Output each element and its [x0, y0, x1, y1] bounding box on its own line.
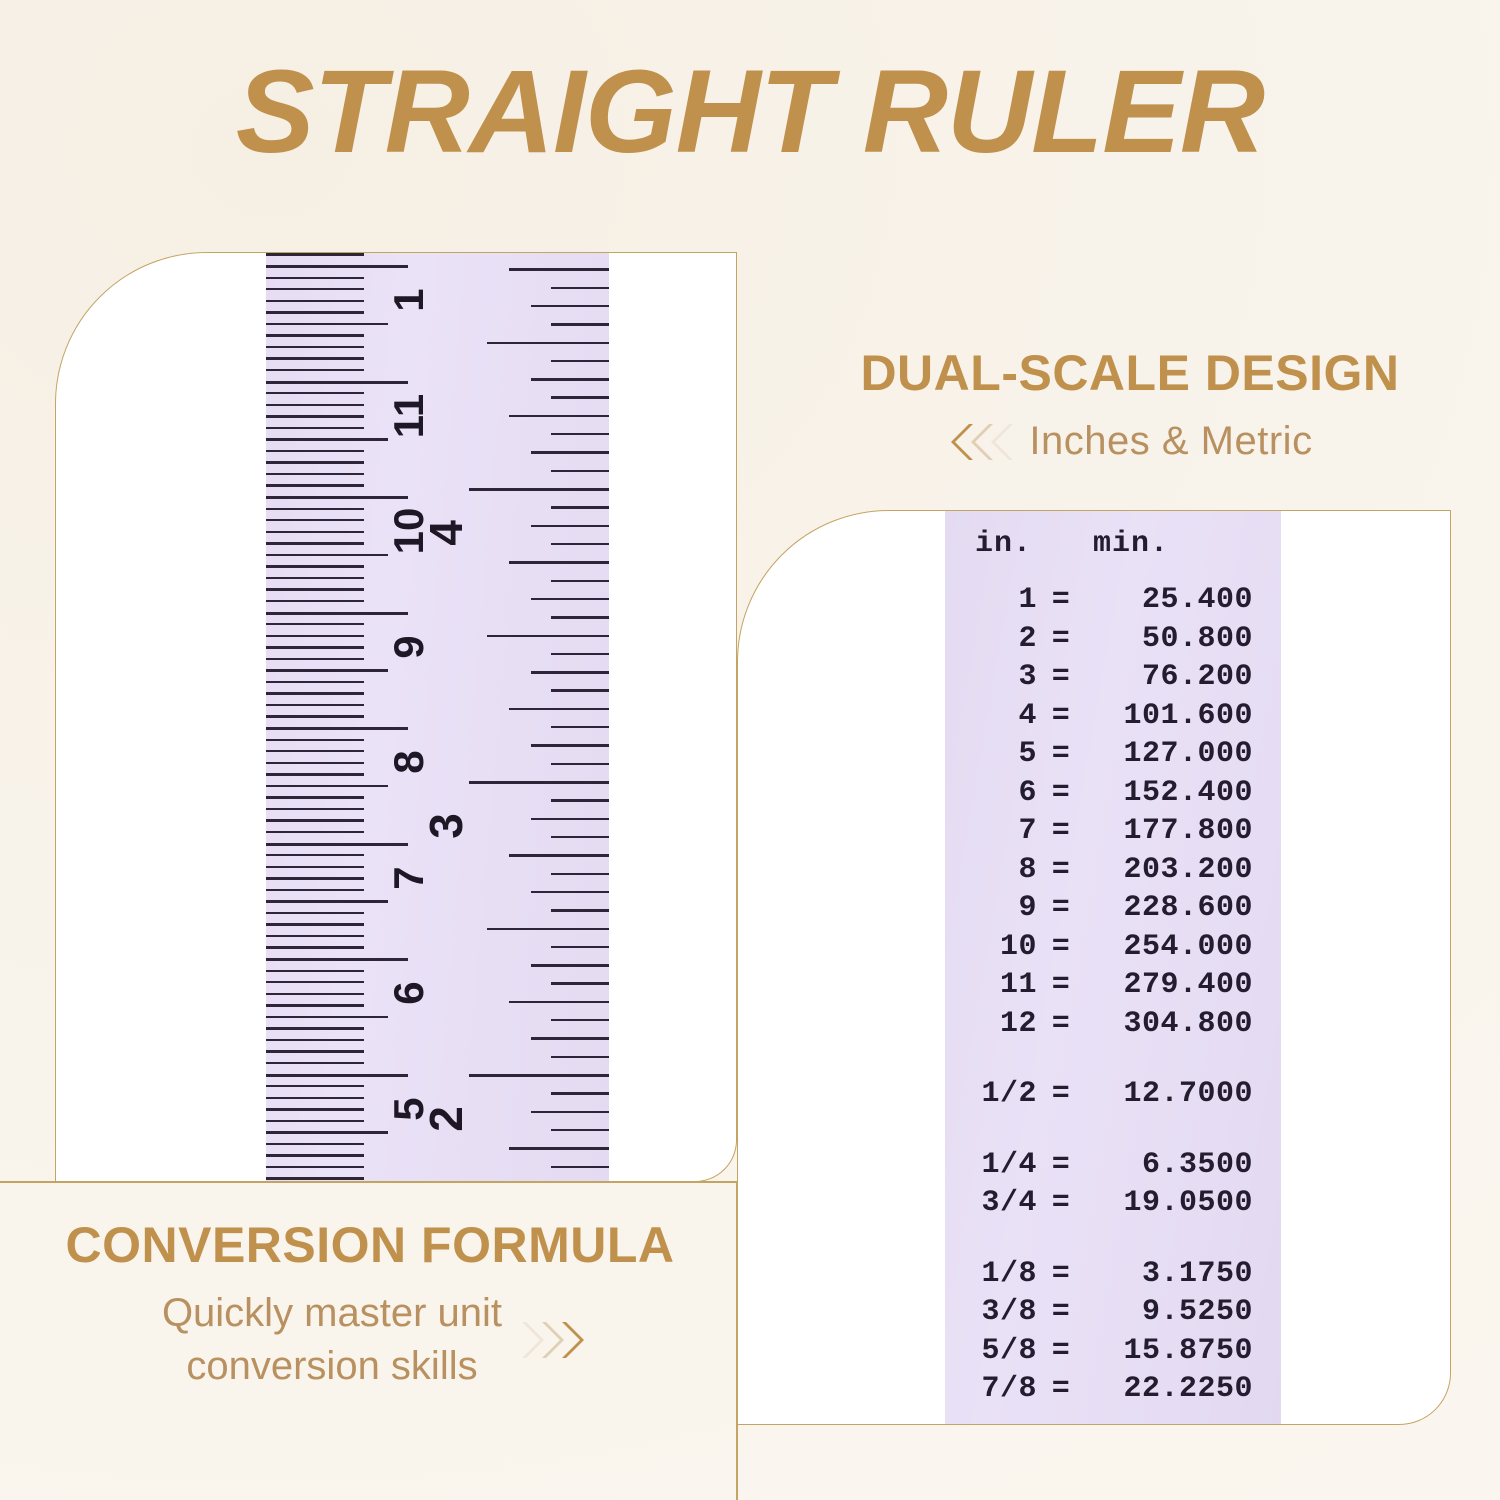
ruler-tick-mm — [266, 819, 364, 821]
ruler-tick-eighth-inch — [531, 378, 609, 380]
cell-inches: 1/4 — [967, 1150, 1037, 1180]
conversion-formula-heading: CONVERSION FORMULA — [10, 1218, 730, 1273]
ruler-tick-mm — [266, 346, 364, 348]
cell-inches: 9 — [967, 893, 1037, 923]
ruler-tick-5mm — [266, 669, 388, 671]
ruler-tick-mm — [266, 981, 364, 983]
conversion-formula-subrow: Quickly master unit conversion skills — [10, 1287, 730, 1393]
cell-equals: = — [1037, 624, 1085, 654]
cell-millimeters: 25.400 — [1085, 585, 1259, 615]
cell-inches: 3 — [967, 662, 1037, 692]
ruler-tick-cm — [266, 843, 408, 846]
cell-millimeters: 3.1750 — [1085, 1259, 1259, 1289]
cell-inches: 10 — [967, 932, 1037, 962]
ruler-tick-mm — [266, 946, 364, 948]
ruler-tick-sixteenth — [551, 543, 609, 545]
ruler-tick-mm — [266, 357, 364, 359]
ruler-tick-mm — [266, 1004, 364, 1006]
cell-millimeters: 203.200 — [1085, 855, 1259, 885]
ruler-tick-cm — [266, 496, 408, 499]
ruler-tick-half-inch — [487, 928, 609, 930]
ruler-tick-mm — [266, 715, 364, 717]
ruler-tick-cm — [266, 612, 408, 615]
ruler-tick-mm — [266, 1027, 364, 1029]
cell-equals: = — [1037, 1188, 1085, 1218]
cell-equals: = — [1037, 778, 1085, 808]
cell-inches: 8 — [967, 855, 1037, 885]
table-row: 7/8=22.2250 — [967, 1374, 1259, 1413]
ruler-tick-mm — [266, 311, 364, 313]
cell-equals: = — [1037, 739, 1085, 769]
ruler-tick-eighth-inch — [531, 671, 609, 673]
cell-equals: = — [1037, 662, 1085, 692]
ruler-tick-mm — [266, 531, 364, 533]
ruler-tick-sixteenth — [551, 1129, 609, 1131]
ruler-tick-sixteenth — [551, 470, 609, 472]
ruler-tick-mm — [266, 658, 364, 660]
ruler-tick-mm — [266, 739, 364, 741]
ruler-tick-mm — [266, 565, 364, 567]
ruler-tick-mm — [266, 1097, 364, 1099]
ruler-tick-mm — [266, 253, 364, 255]
ruler-tick-quarter-inch — [509, 561, 609, 563]
ruler-tick-sixteenth — [551, 433, 609, 435]
cell-equals: = — [1037, 1259, 1085, 1289]
cell-equals: = — [1037, 816, 1085, 846]
ruler-tick-half-inch — [487, 635, 609, 637]
ruler-tick-5mm — [266, 1016, 388, 1018]
ruler-tick-mm — [266, 369, 364, 371]
cell-equals: = — [1037, 701, 1085, 731]
page-title: STRAIGHT RULER — [0, 48, 1500, 178]
table-row: 1/2=12.7000 — [967, 1079, 1259, 1118]
cell-millimeters: 304.800 — [1085, 1009, 1259, 1039]
ruler-tick-eighth-inch — [531, 818, 609, 820]
cell-millimeters: 127.000 — [1085, 739, 1259, 769]
ruler-tick-eighth-inch — [531, 891, 609, 893]
ruler-tick-mm — [266, 877, 364, 879]
ruler-tick-mm — [266, 404, 364, 406]
table-row: 3/4=19.0500 — [967, 1188, 1259, 1227]
table-row: 1/4=6.3500 — [967, 1150, 1259, 1189]
ruler-tick-sixteenth — [551, 982, 609, 984]
ruler-tick-mm — [266, 923, 364, 925]
ruler-tick-mm — [266, 1120, 364, 1122]
ruler-tick-mm — [266, 484, 364, 486]
table-row: 12=304.800 — [967, 1009, 1259, 1048]
table-row: 2=50.800 — [967, 624, 1259, 663]
ruler-label-cm: 11 — [388, 381, 430, 451]
ruler-tick-inch — [469, 488, 609, 491]
ruler-tick-mm — [266, 519, 364, 521]
ruler-tick-mm — [266, 704, 364, 706]
ruler-tick-mm — [266, 473, 364, 475]
cell-millimeters: 228.600 — [1085, 893, 1259, 923]
cell-equals: = — [1037, 1336, 1085, 1366]
cell-millimeters: 76.200 — [1085, 662, 1259, 692]
table-row: 9=228.600 — [967, 893, 1259, 932]
ruler-tick-mm — [266, 588, 364, 590]
cell-equals: = — [1037, 893, 1085, 923]
cell-equals: = — [1037, 1009, 1085, 1039]
ruler-tick-mm — [266, 1108, 364, 1110]
table-group-gap — [967, 1118, 1259, 1150]
ruler-tick-sixteenth — [551, 323, 609, 325]
cell-millimeters: 12.7000 — [1085, 1079, 1259, 1109]
cell-millimeters: 15.8750 — [1085, 1336, 1259, 1366]
ruler-tick-mm — [266, 600, 364, 602]
cell-equals: = — [1037, 1079, 1085, 1109]
cell-inches: 4 — [967, 701, 1037, 731]
ruler-tick-sixteenth — [551, 616, 609, 618]
ruler-tick-eighth-inch — [531, 744, 609, 746]
ruler-tick-quarter-inch — [509, 1001, 609, 1003]
cell-equals: = — [1037, 970, 1085, 1000]
cell-equals: = — [1037, 1297, 1085, 1327]
ruler-tick-cm — [266, 381, 408, 384]
ruler-tick-mm — [266, 577, 364, 579]
ruler-tick-5mm — [266, 1131, 388, 1133]
ruler-tick-mm — [266, 681, 364, 683]
ruler-tick-sixteenth — [551, 726, 609, 728]
ruler-tick-mm — [266, 1143, 364, 1145]
ruler-tick-sixteenth — [551, 360, 609, 362]
cell-millimeters: 177.800 — [1085, 816, 1259, 846]
conversion-formula-subheading: Quickly master unit conversion skills — [162, 1287, 502, 1393]
ruler-tick-mm — [266, 1154, 364, 1156]
ruler-tick-mm — [266, 854, 364, 856]
ruler-tick-eighth-inch — [531, 305, 609, 307]
cell-inches: 2 — [967, 624, 1037, 654]
ruler-tick-5mm — [266, 900, 388, 902]
ruler-tick-mm — [266, 912, 364, 914]
ruler-tick-mm — [266, 461, 364, 463]
cell-inches: 1 — [967, 585, 1037, 615]
ruler-tick-sixteenth — [551, 653, 609, 655]
ruler-tick-mm — [266, 750, 364, 752]
ruler-tick-inch — [469, 1074, 609, 1077]
cell-millimeters: 22.2250 — [1085, 1374, 1259, 1404]
ruler-tick-mm — [266, 427, 364, 429]
ruler-label-cm: 9 — [388, 612, 430, 682]
cell-inches: 11 — [967, 970, 1037, 1000]
ruler-tick-sixteenth — [551, 799, 609, 801]
ruler-tick-quarter-inch — [509, 708, 609, 710]
ruler-tick-quarter-inch — [509, 268, 609, 270]
cell-millimeters: 254.000 — [1085, 932, 1259, 962]
ruler-tick-quarter-inch — [509, 1147, 609, 1149]
ruler-tick-eighth-inch — [531, 1111, 609, 1113]
ruler-tick-mm — [266, 334, 364, 336]
cell-equals: = — [1037, 855, 1085, 885]
table-row: 3=76.200 — [967, 662, 1259, 701]
ruler-tick-half-inch — [487, 342, 609, 344]
ruler-tick-mm — [266, 635, 364, 637]
ruler-label-inch: 2 — [423, 1084, 469, 1154]
cell-millimeters: 152.400 — [1085, 778, 1259, 808]
cell-millimeters: 50.800 — [1085, 624, 1259, 654]
table-row: 7=177.800 — [967, 816, 1259, 855]
table-row: 6=152.400 — [967, 778, 1259, 817]
ruler-tick-sixteenth — [551, 580, 609, 582]
ruler-tick-cm — [266, 1074, 408, 1077]
cell-millimeters: 279.400 — [1085, 970, 1259, 1000]
ruler-tick-mm — [266, 1062, 364, 1064]
conversion-subheading-line1: Quickly master unit — [162, 1291, 502, 1335]
cell-inches: 5/8 — [967, 1336, 1037, 1366]
ruler-tick-eighth-inch — [531, 964, 609, 966]
chevron-left-icon-group — [947, 422, 1007, 462]
ruler-tick-eighth-inch — [531, 1037, 609, 1039]
ruler-back-strip: in. min. 1=25.4002=50.8003=76.2004=101.6… — [945, 511, 1281, 1425]
ruler-tick-eighth-inch — [531, 451, 609, 453]
ruler-tick-5mm — [266, 323, 388, 325]
ruler-tick-sixteenth — [551, 287, 609, 289]
ruler-tick-inch — [469, 781, 609, 784]
cell-equals: = — [1037, 1150, 1085, 1180]
cell-inches: 7/8 — [967, 1374, 1037, 1404]
cell-equals: = — [1037, 1374, 1085, 1404]
cell-millimeters: 6.3500 — [1085, 1150, 1259, 1180]
ruler-tick-mm — [266, 831, 364, 833]
table-row: 3/8=9.5250 — [967, 1297, 1259, 1336]
chevron-right-icon-group — [518, 1320, 578, 1360]
ruler-tick-mm — [266, 288, 364, 290]
cell-inches: 6 — [967, 778, 1037, 808]
cell-equals: = — [1037, 932, 1085, 962]
ruler-tick-mm — [266, 796, 364, 798]
chevron-right-icon — [558, 1320, 584, 1360]
ruler-tick-mm — [266, 1177, 364, 1179]
ruler-tick-sixteenth — [551, 836, 609, 838]
cell-inches: 1/2 — [967, 1079, 1037, 1109]
cell-millimeters: 19.0500 — [1085, 1188, 1259, 1218]
cell-inches: 7 — [967, 816, 1037, 846]
dual-scale-subrow: Inches & Metric — [780, 419, 1480, 464]
ruler-tick-mm — [266, 277, 364, 279]
ruler-photo-card: 1111098765432 — [55, 252, 737, 1182]
ruler-tick-cm — [266, 265, 408, 268]
ruler-label-cm: 8 — [388, 727, 430, 797]
table-row: 8=203.200 — [967, 855, 1259, 894]
ruler-tick-mm — [266, 542, 364, 544]
ruler-tick-mm — [266, 1085, 364, 1087]
ruler-tick-5mm — [266, 438, 388, 440]
conversion-table: in. min. 1=25.4002=50.8003=76.2004=101.6… — [945, 511, 1281, 1413]
ruler-tick-mm — [266, 1050, 364, 1052]
conversion-subheading-line2: conversion skills — [186, 1344, 477, 1388]
ruler-tick-mm — [266, 646, 364, 648]
ruler-label-cm: 1 — [388, 265, 430, 335]
table-row: 1=25.400 — [967, 585, 1259, 624]
ruler-tick-mm — [266, 415, 364, 417]
table-group-gap — [967, 1047, 1259, 1079]
dual-scale-subheading: Inches & Metric — [1029, 419, 1312, 464]
ruler-label-inch: 4 — [423, 498, 469, 568]
feature-dual-scale: DUAL-SCALE DESIGN Inches & Metric — [780, 346, 1480, 464]
cell-millimeters: 9.5250 — [1085, 1297, 1259, 1327]
ruler-tick-mm — [266, 692, 364, 694]
ruler-tick-mm — [266, 993, 364, 995]
ruler-tick-cm — [266, 958, 408, 961]
ruler-tick-quarter-inch — [509, 415, 609, 417]
feature-conversion-formula: CONVERSION FORMULA Quickly master unit c… — [10, 1218, 730, 1393]
ruler-tick-mm — [266, 508, 364, 510]
ruler-tick-mm — [266, 392, 364, 394]
ruler-tick-sixteenth — [551, 1019, 609, 1021]
ruler-tick-sixteenth — [551, 689, 609, 691]
cell-inches: 3/4 — [967, 1188, 1037, 1218]
ruler-tick-sixteenth — [551, 506, 609, 508]
ruler-tick-eighth-inch — [531, 525, 609, 527]
cell-inches: 12 — [967, 1009, 1037, 1039]
table-body: 1=25.4002=50.8003=76.2004=101.6005=127.0… — [967, 585, 1259, 1413]
ruler-tick-sixteenth — [551, 909, 609, 911]
ruler-tick-mm — [266, 1039, 364, 1041]
table-row: 11=279.400 — [967, 970, 1259, 1009]
ruler-tick-sixteenth — [551, 763, 609, 765]
ruler-label-cm: 6 — [388, 958, 430, 1028]
ruler-tick-sixteenth — [551, 1092, 609, 1094]
ruler-tick-mm — [266, 889, 364, 891]
ruler-tick-quarter-inch — [509, 854, 609, 856]
ruler-tick-5mm — [266, 785, 388, 787]
ruler-tick-sixteenth — [551, 946, 609, 948]
left-panel-bottom-rule — [0, 1181, 737, 1183]
table-row: 4=101.600 — [967, 701, 1259, 740]
column-header-millimeters: min. — [1093, 529, 1259, 559]
ruler-tick-mm — [266, 935, 364, 937]
ruler-tick-mm — [266, 300, 364, 302]
ruler-tick-mm — [266, 1166, 364, 1168]
cell-inches: 5 — [967, 739, 1037, 769]
ruler-tick-mm — [266, 623, 364, 625]
table-row: 5=127.000 — [967, 739, 1259, 778]
dual-scale-heading: DUAL-SCALE DESIGN — [780, 346, 1480, 401]
cell-inches: 3/8 — [967, 1297, 1037, 1327]
ruler-tick-sixteenth — [551, 396, 609, 398]
table-group-gap — [967, 1227, 1259, 1259]
column-header-inches: in. — [975, 529, 1093, 559]
cell-inches: 1/8 — [967, 1259, 1037, 1289]
ruler-tick-eighth-inch — [531, 598, 609, 600]
ruler-tick-sixteenth — [551, 873, 609, 875]
ruler-tick-sixteenth — [551, 1056, 609, 1058]
cell-equals: = — [1037, 585, 1085, 615]
ruler-tick-5mm — [266, 554, 388, 556]
vertical-ruler-image: 1111098765432 — [266, 253, 609, 1182]
table-row: 5/8=15.8750 — [967, 1336, 1259, 1375]
ruler-tick-mm — [266, 773, 364, 775]
table-row: 10=254.000 — [967, 932, 1259, 971]
ruler-label-inch: 3 — [423, 791, 469, 861]
ruler-tick-cm — [266, 727, 408, 730]
ruler-tick-sixteenth — [551, 1166, 609, 1168]
ruler-tick-mm — [266, 450, 364, 452]
ruler-tick-mm — [266, 970, 364, 972]
ruler-tick-mm — [266, 808, 364, 810]
cell-millimeters: 101.600 — [1085, 701, 1259, 731]
ruler-tick-mm — [266, 762, 364, 764]
chevron-left-icon — [987, 422, 1013, 462]
conversion-table-card: in. min. 1=25.4002=50.8003=76.2004=101.6… — [737, 510, 1451, 1425]
table-row: 1/8=3.1750 — [967, 1259, 1259, 1298]
table-header-row: in. min. — [967, 529, 1259, 559]
ruler-tick-mm — [266, 866, 364, 868]
